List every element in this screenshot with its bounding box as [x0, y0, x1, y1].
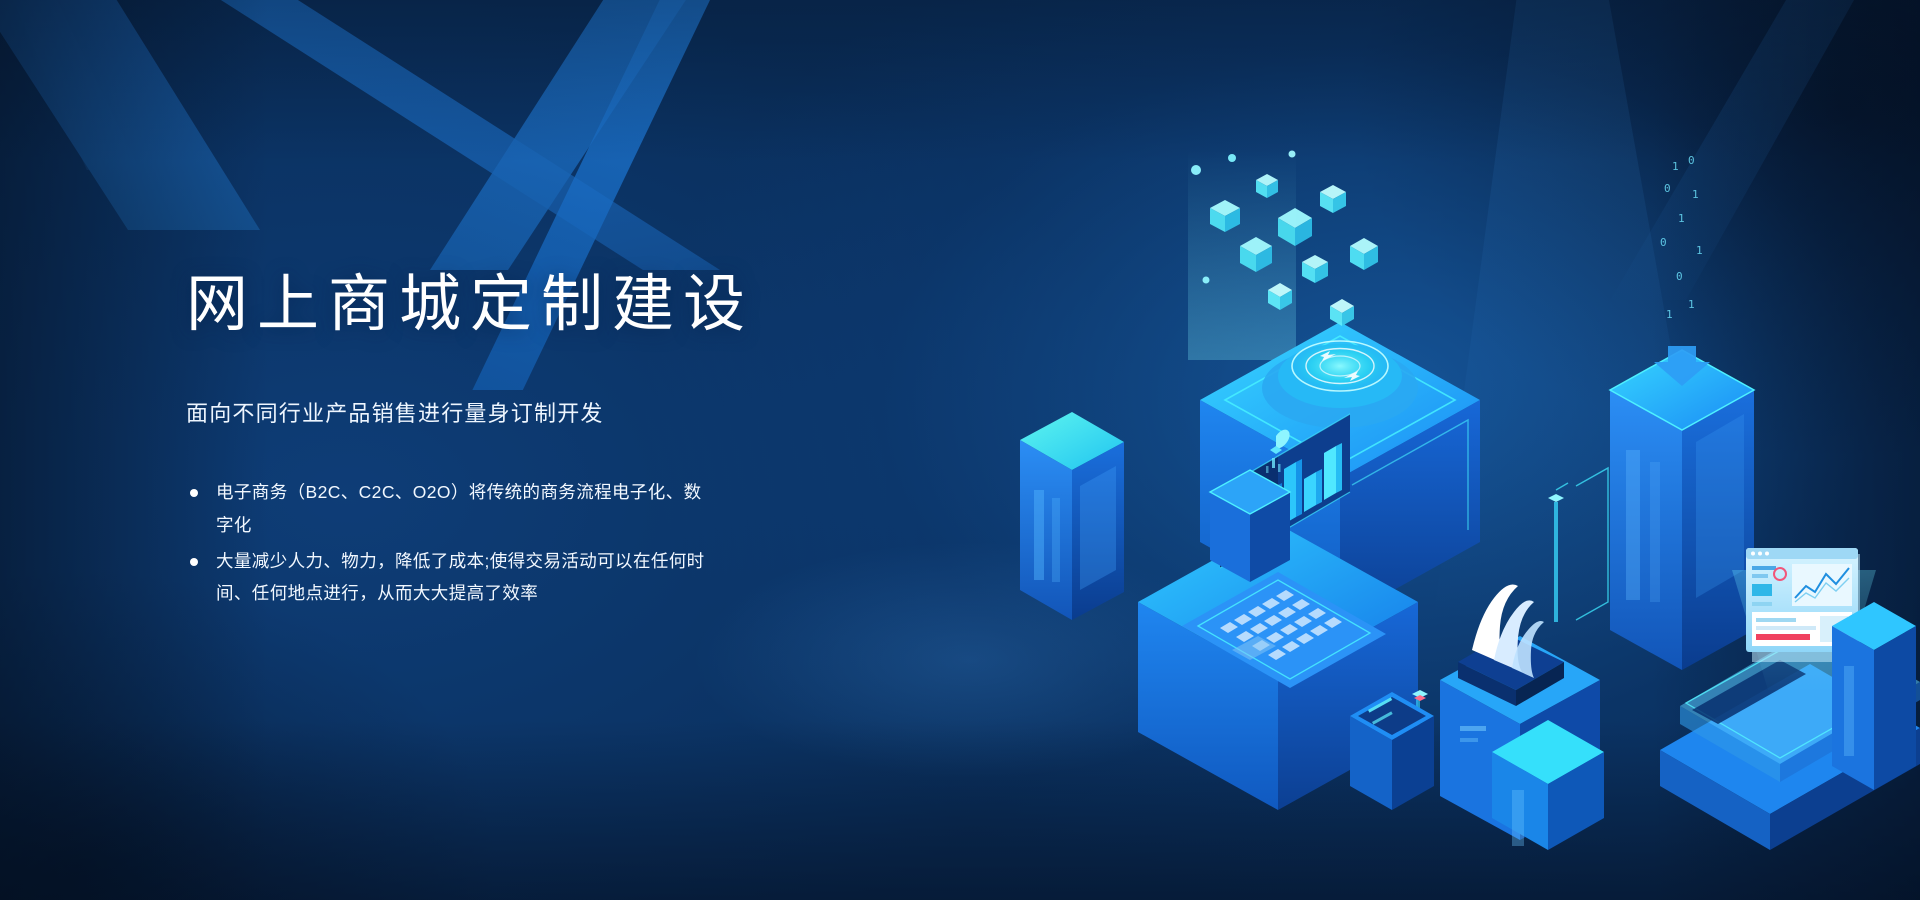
svg-text:0: 0 — [1676, 270, 1683, 283]
svg-text:0: 0 — [1664, 182, 1671, 195]
svg-text:1: 1 — [1696, 244, 1703, 257]
svg-text:0: 0 — [1688, 154, 1695, 167]
hero-content: 网上商城定制建设 面向不同行业产品销售进行量身订制开发 电子商务（B2C、C2C… — [186, 268, 826, 614]
page-subtitle: 面向不同行业产品销售进行量身订制开发 — [186, 397, 826, 430]
page-title: 网上商城定制建设 — [186, 268, 826, 341]
svg-text:0: 0 — [1660, 236, 1667, 249]
download-tower: 10 01 10 10 11 — [1610, 154, 1754, 670]
svg-text:1: 1 — [1672, 160, 1679, 173]
list-item: 大量减少人力、物力，降低了成本;使得交易活动可以在任何时间、任何地点进行，从而大… — [186, 545, 706, 610]
feature-list: 电子商务（B2C、C2C、O2O）将传统的商务流程电子化、数字化 大量减少人力、… — [186, 476, 826, 610]
console-panel-left — [1350, 692, 1434, 810]
isometric-illustration: 10 01 10 10 11 — [1020, 150, 1920, 850]
list-item-text: 电子商务（B2C、C2C、O2O）将传统的商务流程电子化、数字化 — [216, 482, 702, 534]
svg-text:1: 1 — [1688, 298, 1695, 311]
svg-text:1: 1 — [1678, 212, 1685, 225]
rocket-launch-tower — [1210, 470, 1290, 582]
svg-text:1: 1 — [1692, 188, 1699, 201]
server-pillar-right — [1832, 602, 1916, 790]
bullet-dot-icon — [190, 489, 198, 497]
list-item: 电子商务（B2C、C2C、O2O）将传统的商务流程电子化、数字化 — [186, 476, 706, 541]
server-pillar-left — [1020, 412, 1124, 620]
svg-text:1: 1 — [1666, 308, 1673, 321]
neon-connectors — [1556, 468, 1608, 620]
hero-banner: 10 01 10 10 11 — [0, 0, 1920, 900]
list-item-text: 大量减少人力、物力，降低了成本;使得交易活动可以在任何时间、任何地点进行，从而大… — [216, 551, 705, 603]
bullet-dot-icon — [190, 558, 198, 566]
